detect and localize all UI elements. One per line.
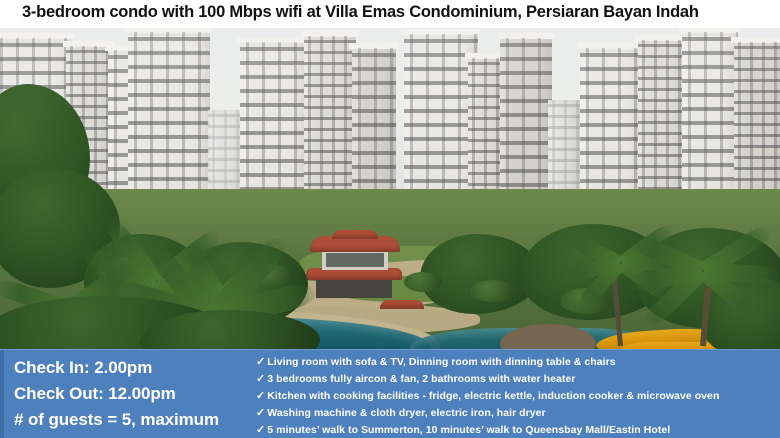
listing-photo-card: 3-bedroom condo with 100 Mbps wifi at Vi…: [0, 0, 780, 438]
info-panel: Check In: 2.00pm Check Out: 12.00pm # of…: [0, 349, 780, 438]
outbuilding-roof: [380, 300, 424, 309]
check-icon: ✓: [256, 422, 265, 438]
list-item: ✓ 5 minutes’ walk to Summerton, 10 minut…: [256, 422, 776, 438]
list-item: ✓ Kitchen with cooking facilities - frid…: [256, 388, 776, 405]
title-bar: 3-bedroom condo with 100 Mbps wifi at Vi…: [0, 0, 780, 28]
list-item: ✓ Living room with sofa & TV, Dinning ro…: [256, 354, 776, 371]
list-item: ✓ 3 bedrooms fully aircon & fan, 2 bathr…: [256, 371, 776, 388]
shrub: [404, 272, 442, 292]
list-item: ✓ Washing machine & cloth dryer, electri…: [256, 405, 776, 422]
list-item-label: 5 minutes’ walk to Summerton, 10 minutes…: [267, 422, 670, 438]
list-item-label: 3 bedrooms fully aircon & fan, 2 bathroo…: [267, 371, 575, 388]
stay-info-block: Check In: 2.00pm Check Out: 12.00pm # of…: [14, 355, 250, 433]
shrub: [470, 280, 516, 302]
amenities-list: ✓ Living room with sofa & TV, Dinning ro…: [256, 354, 776, 438]
check-icon: ✓: [256, 388, 265, 405]
gazebo-glazing: [326, 253, 384, 267]
gazebo-ridge: [332, 230, 378, 239]
property-photo: [0, 28, 780, 349]
check-in-line: Check In: 2.00pm: [14, 355, 250, 381]
listing-title: 3-bedroom condo with 100 Mbps wifi at Vi…: [22, 3, 699, 22]
list-item-label: Living room with sofa & TV, Dinning room…: [267, 354, 615, 371]
list-item-label: Kitchen with cooking facilities - fridge…: [267, 388, 719, 405]
list-item-label: Washing machine & cloth dryer, electric …: [267, 405, 545, 422]
check-icon: ✓: [256, 371, 265, 388]
check-out-line: Check Out: 12.00pm: [14, 381, 250, 407]
check-icon: ✓: [256, 405, 265, 422]
guest-count-line: # of guests = 5, maximum: [14, 407, 250, 433]
check-icon: ✓: [256, 354, 265, 371]
